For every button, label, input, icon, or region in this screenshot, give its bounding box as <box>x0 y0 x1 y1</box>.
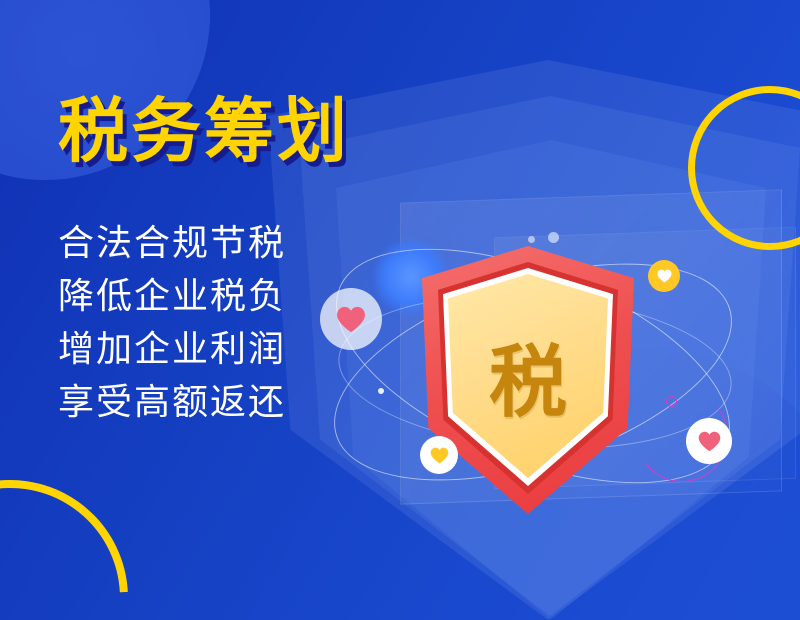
shield-tax-character: 税 <box>448 274 608 478</box>
benefit-item-4: 享受高额返还 <box>58 375 286 428</box>
benefit-item-1: 合法合规节税 <box>58 216 286 269</box>
sparkle-dot-2-icon <box>528 236 535 243</box>
heart-badge-bottom-left <box>420 436 458 474</box>
magenta-dot-decor-icon <box>666 396 677 407</box>
tax-shield-illustration: 税 <box>398 238 658 538</box>
sparkle-dot-3-icon <box>548 232 559 243</box>
benefit-item-2: 降低企业税负 <box>58 269 286 322</box>
tax-planning-banner: 税务筹划 合法合规节税 降低企业税负 增加企业利润 享受高额返还 税 <box>0 0 800 620</box>
heart-icon <box>698 431 721 452</box>
page-title: 税务筹划 <box>58 92 350 170</box>
benefit-list: 合法合规节税 降低企业税负 增加企业利润 享受高额返还 <box>58 216 286 428</box>
heart-icon <box>657 269 672 283</box>
yellow-arc-decor-icon <box>0 431 177 620</box>
sparkle-dot-1-icon <box>378 388 384 394</box>
heart-icon <box>336 306 366 333</box>
heart-badge-bottom-right <box>686 418 732 464</box>
heart-badge-left <box>320 288 382 350</box>
heart-icon <box>430 447 449 464</box>
benefit-item-3: 增加企业利润 <box>58 322 286 375</box>
heart-badge-top-right <box>648 260 680 292</box>
